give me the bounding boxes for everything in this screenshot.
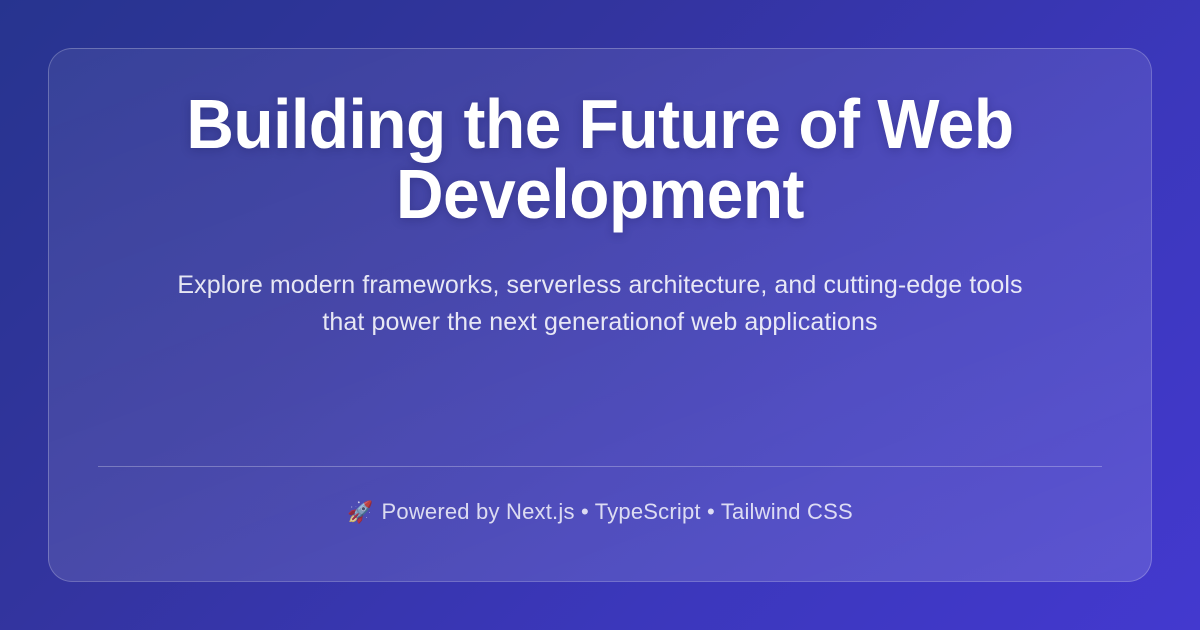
footer-credits: 🚀 Powered by Next.js • TypeScript • Tail… <box>49 499 1151 525</box>
footer-divider <box>98 466 1102 467</box>
page-title: Building the Future of Web Development <box>177 89 1023 229</box>
page-subtitle: Explore modern frameworks, serverless ar… <box>160 267 1040 341</box>
footer-credits-label: Powered by Next.js • TypeScript • Tailwi… <box>382 499 853 525</box>
og-card: Building the Future of Web Development E… <box>48 48 1152 582</box>
rocket-icon: 🚀 <box>347 502 373 523</box>
